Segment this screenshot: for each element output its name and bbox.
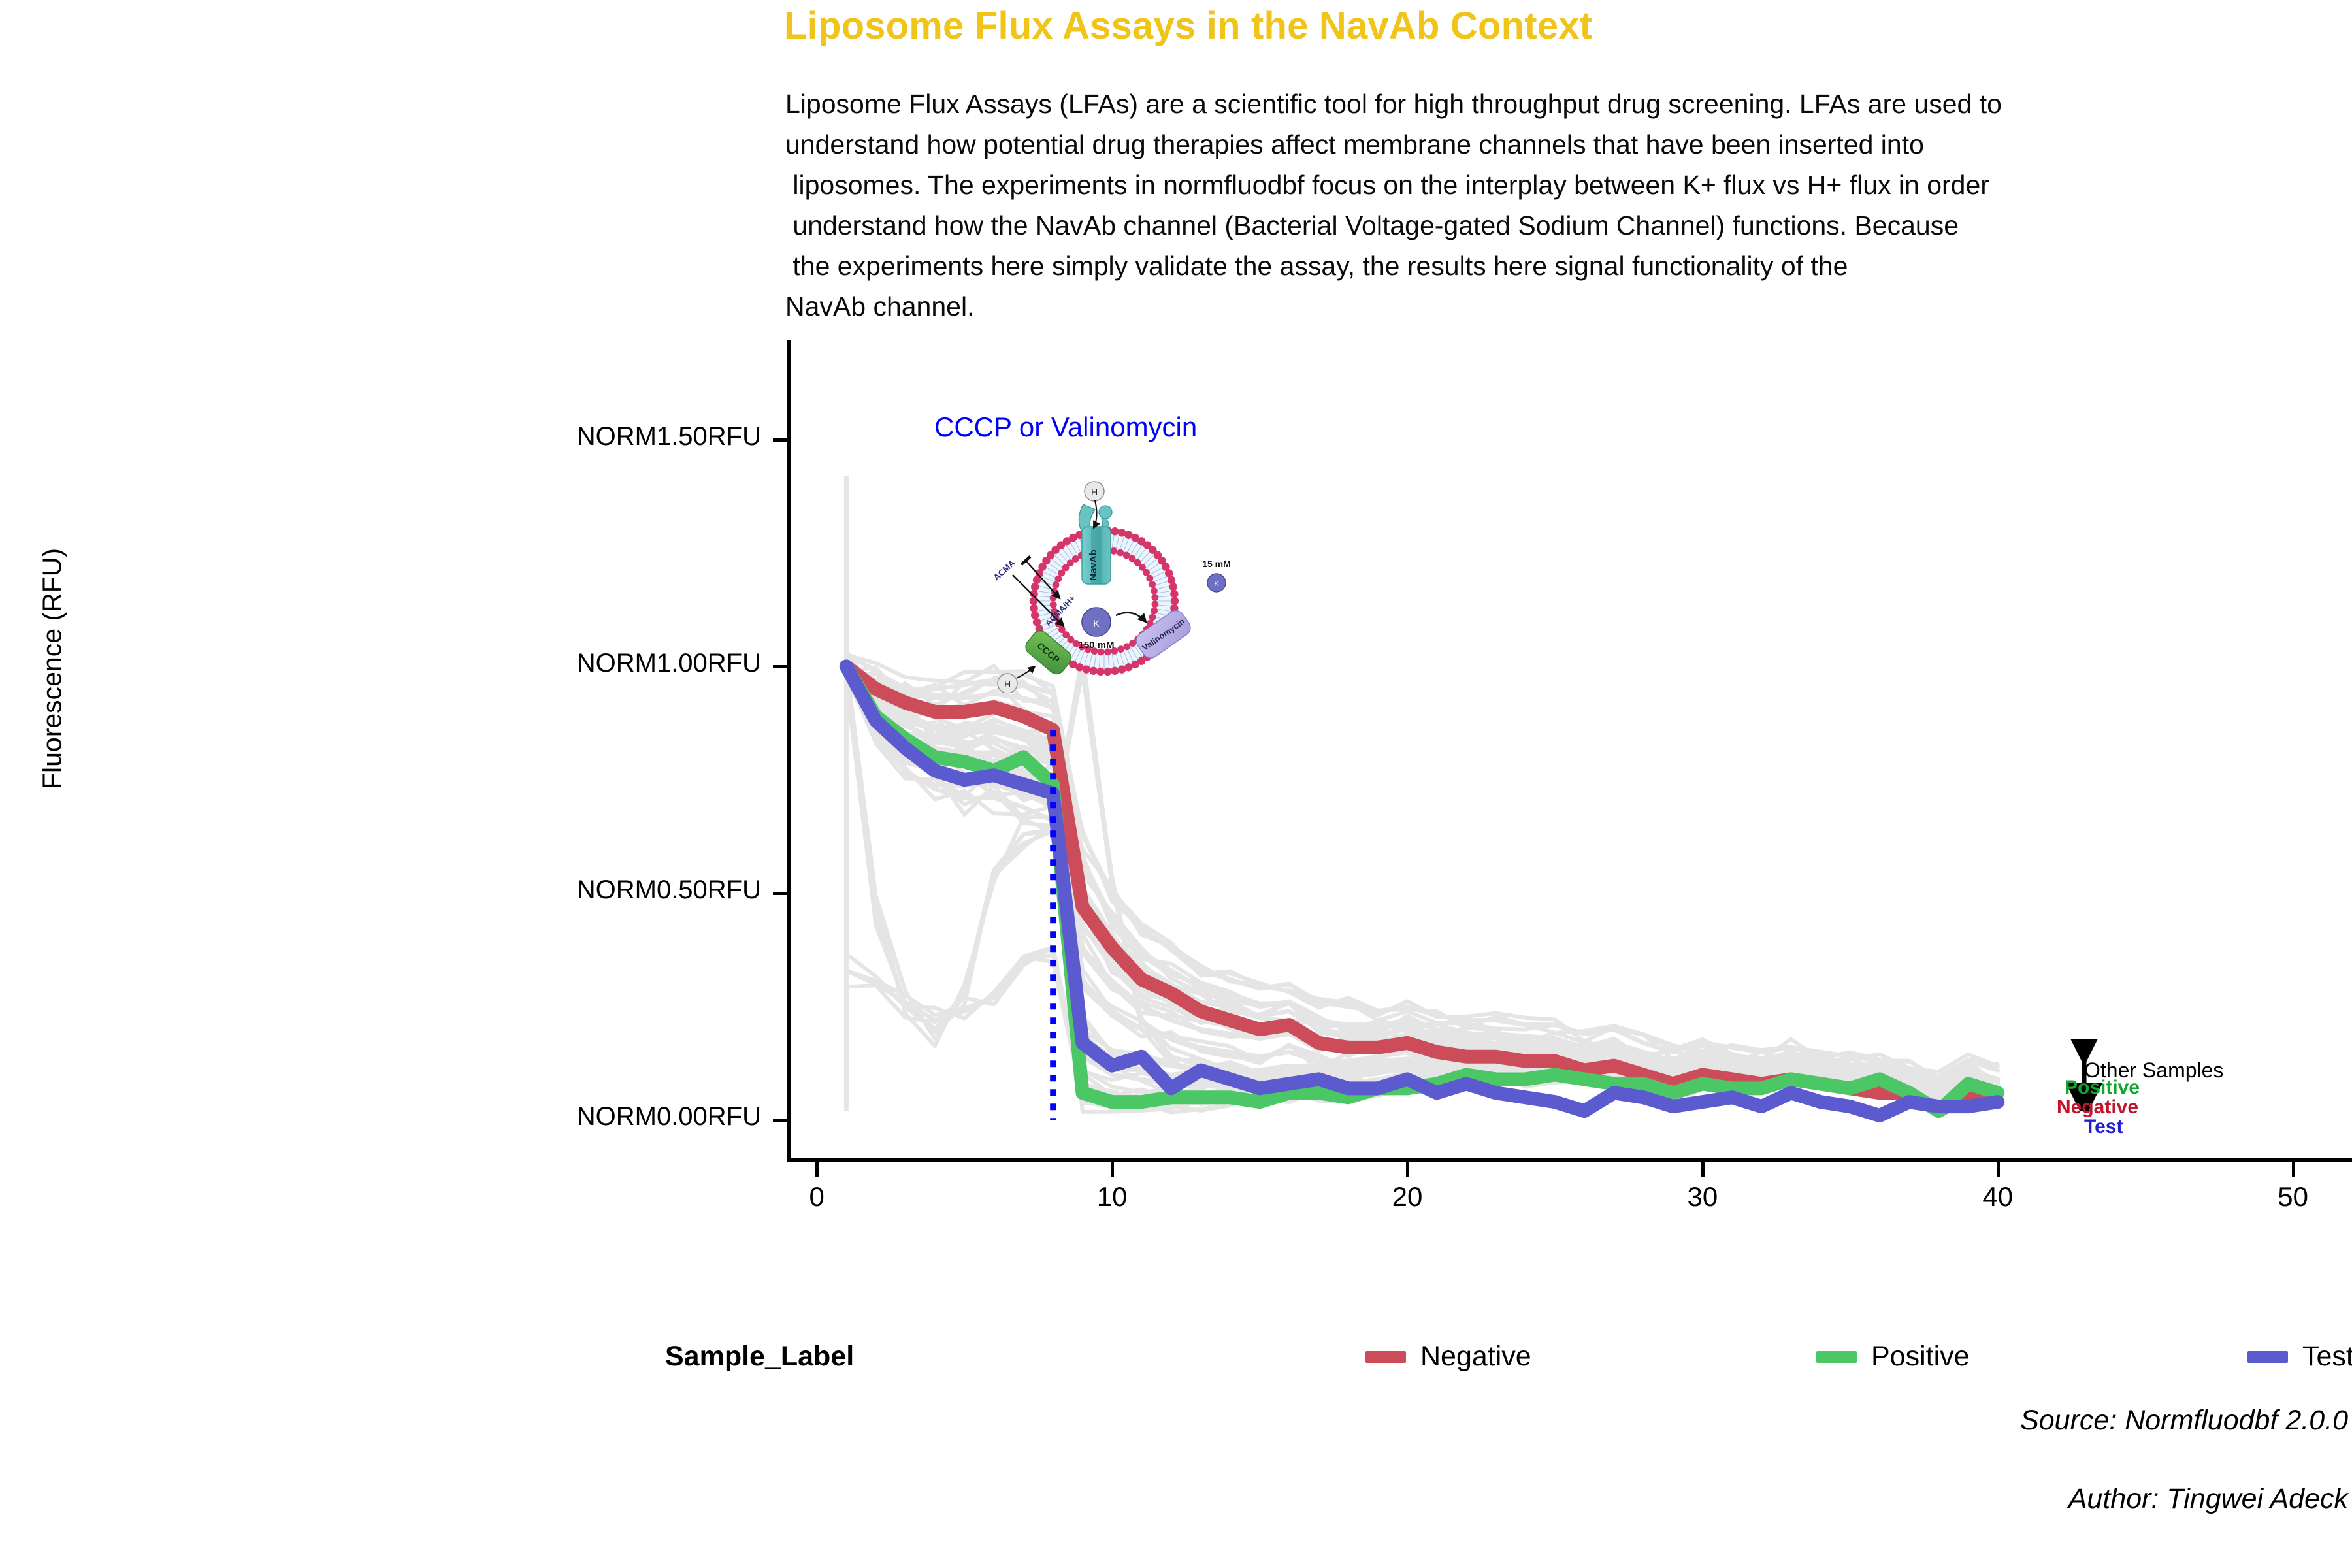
y-tick-mark — [773, 892, 787, 895]
x-tick-mark — [1997, 1162, 2000, 1177]
legend-swatch-test — [2247, 1351, 2288, 1363]
legend-label-negative: Negative — [1420, 1341, 1531, 1373]
x-tick-mark — [1406, 1162, 1409, 1177]
x-tick-label: 20 — [1362, 1181, 1453, 1213]
y-tick-mark — [773, 1119, 787, 1122]
legend-label-positive: Positive — [1871, 1341, 1970, 1373]
legend-swatch-positive — [1816, 1351, 1857, 1363]
y-tick-label: NORM1.00RFU — [487, 649, 761, 678]
legend-item-positive[interactable]: Positive — [1816, 1341, 1970, 1372]
h-influx-arrow-icon — [1094, 500, 1097, 528]
y-tick-label: NORM0.50RFU — [487, 875, 761, 905]
x-tick-mark — [815, 1162, 819, 1177]
navab-label: NavAb — [1088, 549, 1099, 581]
acma-label: ACMA — [991, 558, 1017, 583]
plot-subtitle: Liposome Flux Assays (LFAs) are a scient… — [785, 84, 2352, 327]
y-tick-label: NORM1.50RFU — [487, 422, 761, 451]
x-tick-label: 0 — [771, 1181, 862, 1213]
x-axis-line — [787, 1158, 2352, 1162]
source-caption: Source: Normfluodbf 2.0.0 — [2020, 1405, 2348, 1437]
legend-label-test: Test — [2302, 1341, 2352, 1373]
navab-channel-icon: NavAb — [1079, 504, 1112, 584]
k-inside-conc-label: 150 mM — [1078, 640, 1114, 651]
potassium-inside-icon: K — [1082, 608, 1111, 636]
legend-item-negative[interactable]: Negative — [1365, 1341, 1531, 1372]
annotation-negative: Negative — [2057, 1096, 2138, 1119]
legend-swatch-negative — [1365, 1351, 1406, 1363]
svg-text:H: H — [1091, 487, 1098, 497]
x-tick-label: 30 — [1657, 1181, 1748, 1213]
legend-title: Sample_Label — [665, 1341, 854, 1373]
potassium-outside-icon: K — [1207, 574, 1226, 592]
author-caption: Author: Tingwei Adeck — [2068, 1483, 2348, 1515]
x-tick-mark — [1111, 1162, 1114, 1177]
x-tick-label: 50 — [2247, 1181, 2339, 1213]
y-tick-mark — [773, 665, 787, 668]
proton-top-icon: H — [1085, 482, 1104, 501]
chart-root: Liposome Flux Assays in the NavAb Contex… — [0, 0, 2352, 1568]
y-tick-label: NORM0.00RFU — [487, 1102, 761, 1132]
h-cccp-arrow-icon — [1017, 666, 1035, 678]
y-tick-mark — [773, 438, 787, 442]
k-outside-conc-label: 15 mM — [1202, 559, 1231, 569]
page-title: Liposome Flux Assays in the NavAb Contex… — [784, 4, 2352, 48]
x-tick-label: 10 — [1066, 1181, 1158, 1213]
x-tick-label: 40 — [1952, 1181, 2044, 1213]
annotation-cccp-valinomycin: CCCP or Valinomycin — [934, 412, 1197, 443]
svg-text:K: K — [1214, 580, 1219, 588]
x-tick-mark — [1701, 1162, 1705, 1177]
proton-bottom-icon: H — [998, 674, 1017, 693]
svg-text:H: H — [1004, 679, 1011, 689]
annotation-test: Test — [2084, 1116, 2123, 1138]
y-axis-title: Fluorescence (RFU) — [37, 499, 68, 839]
svg-text:K: K — [1093, 618, 1100, 629]
liposome-diagram: NavAb H H CCCP Valinomycin — [967, 444, 1241, 693]
annotation-positive: Positive — [2065, 1077, 2140, 1099]
legend-item-test[interactable]: Test — [2247, 1341, 2352, 1372]
x-tick-mark — [2292, 1162, 2295, 1177]
